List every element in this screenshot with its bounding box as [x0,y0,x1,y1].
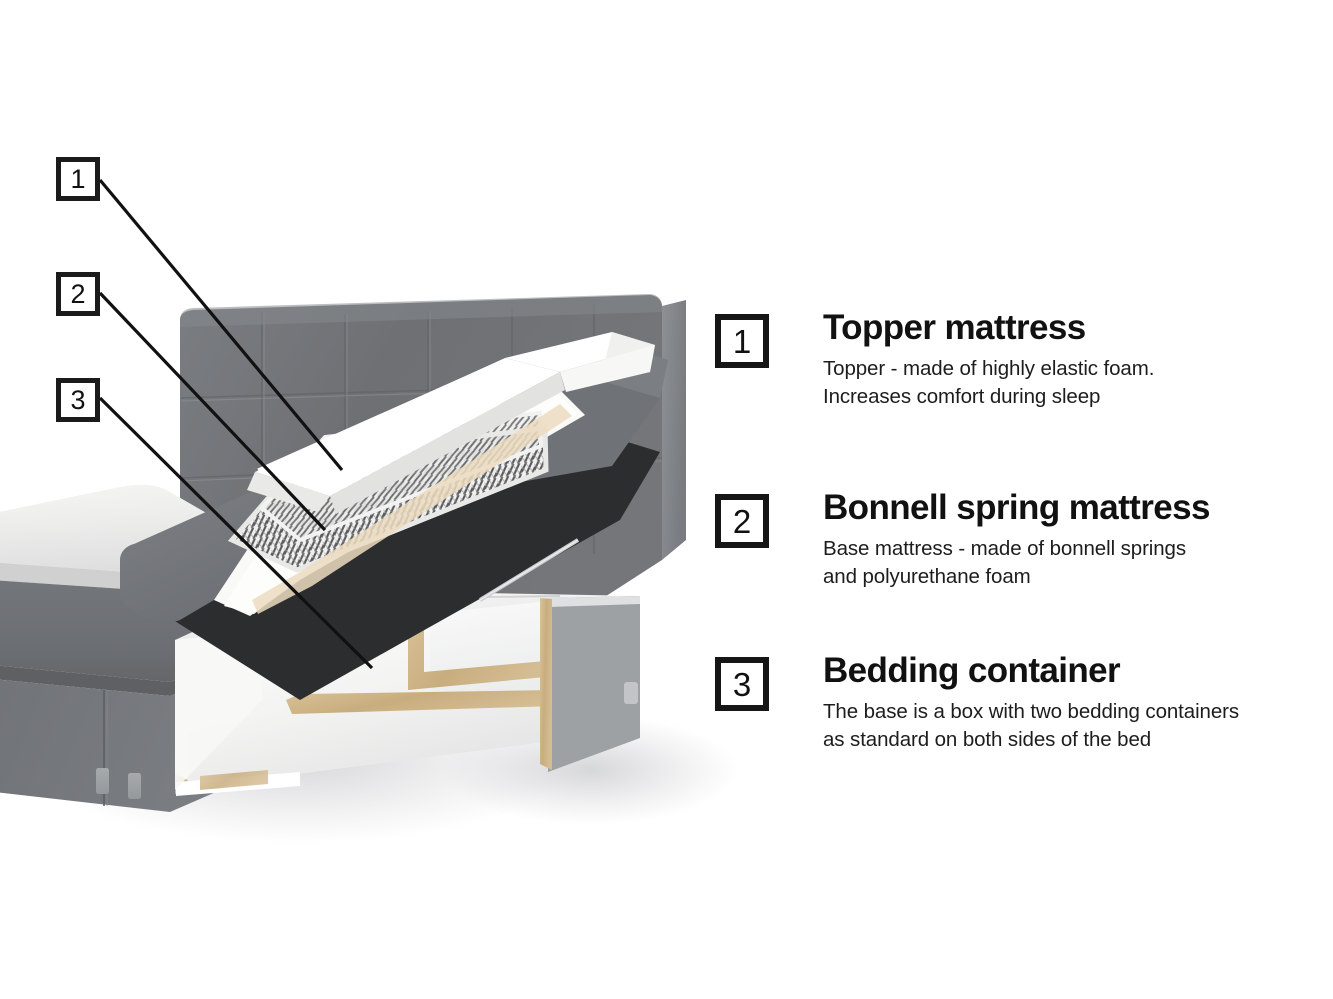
legend-text-block: Bonnell spring mattress Base mattress - … [823,490,1210,590]
legend-description-line: and polyurethane foam [823,563,1210,590]
legend-title-1: Topper mattress [823,310,1154,346]
legend-item-2: 2 Bonnell spring mattress Base mattress … [715,490,1210,590]
legend-text-block: Topper mattress Topper - made of highly … [823,310,1154,410]
legend-item-3: 3 Bedding container The base is a box wi… [715,653,1239,753]
legend-badge-number: 3 [733,668,751,701]
legend-description-2: Base mattress - made of bonnell springs … [823,535,1210,590]
callout-number: 3 [70,387,85,414]
bed-illustration [0,0,720,830]
bed-leg [624,682,638,704]
callout-box-2[interactable]: 2 [56,272,100,316]
bed-leg [128,773,141,799]
legend-description-line: as standard on both sides of the bed [823,726,1239,753]
infographic-canvas: 1 2 3 1 Topper mattress Topper - made of… [0,0,1333,999]
legend-description-1: Topper - made of highly elastic foam. In… [823,355,1154,410]
legend-item-1: 1 Topper mattress Topper - made of highl… [715,310,1154,410]
legend-description-line: Increases comfort during sleep [823,383,1154,410]
legend-description-3: The base is a box with two bedding conta… [823,698,1239,753]
callout-box-3[interactable]: 3 [56,378,100,422]
legend-text-block: Bedding container The base is a box with… [823,653,1239,753]
legend-title-3: Bedding container [823,653,1239,689]
callout-number: 1 [70,166,85,193]
legend-badge-number: 1 [733,325,751,358]
legend-badge-2: 2 [715,494,769,548]
legend-badge-3: 3 [715,657,769,711]
bed-leg [96,768,109,794]
legend-badge-number: 2 [733,505,751,538]
legend-title-2: Bonnell spring mattress [823,490,1210,526]
legend-description-line: The base is a box with two bedding conta… [823,698,1239,725]
callout-number: 2 [70,281,85,308]
legend-badge-1: 1 [715,314,769,368]
legend-description-line: Topper - made of highly elastic foam. [823,355,1154,382]
legend-description-line: Base mattress - made of bonnell springs [823,535,1210,562]
callout-box-1[interactable]: 1 [56,157,100,201]
